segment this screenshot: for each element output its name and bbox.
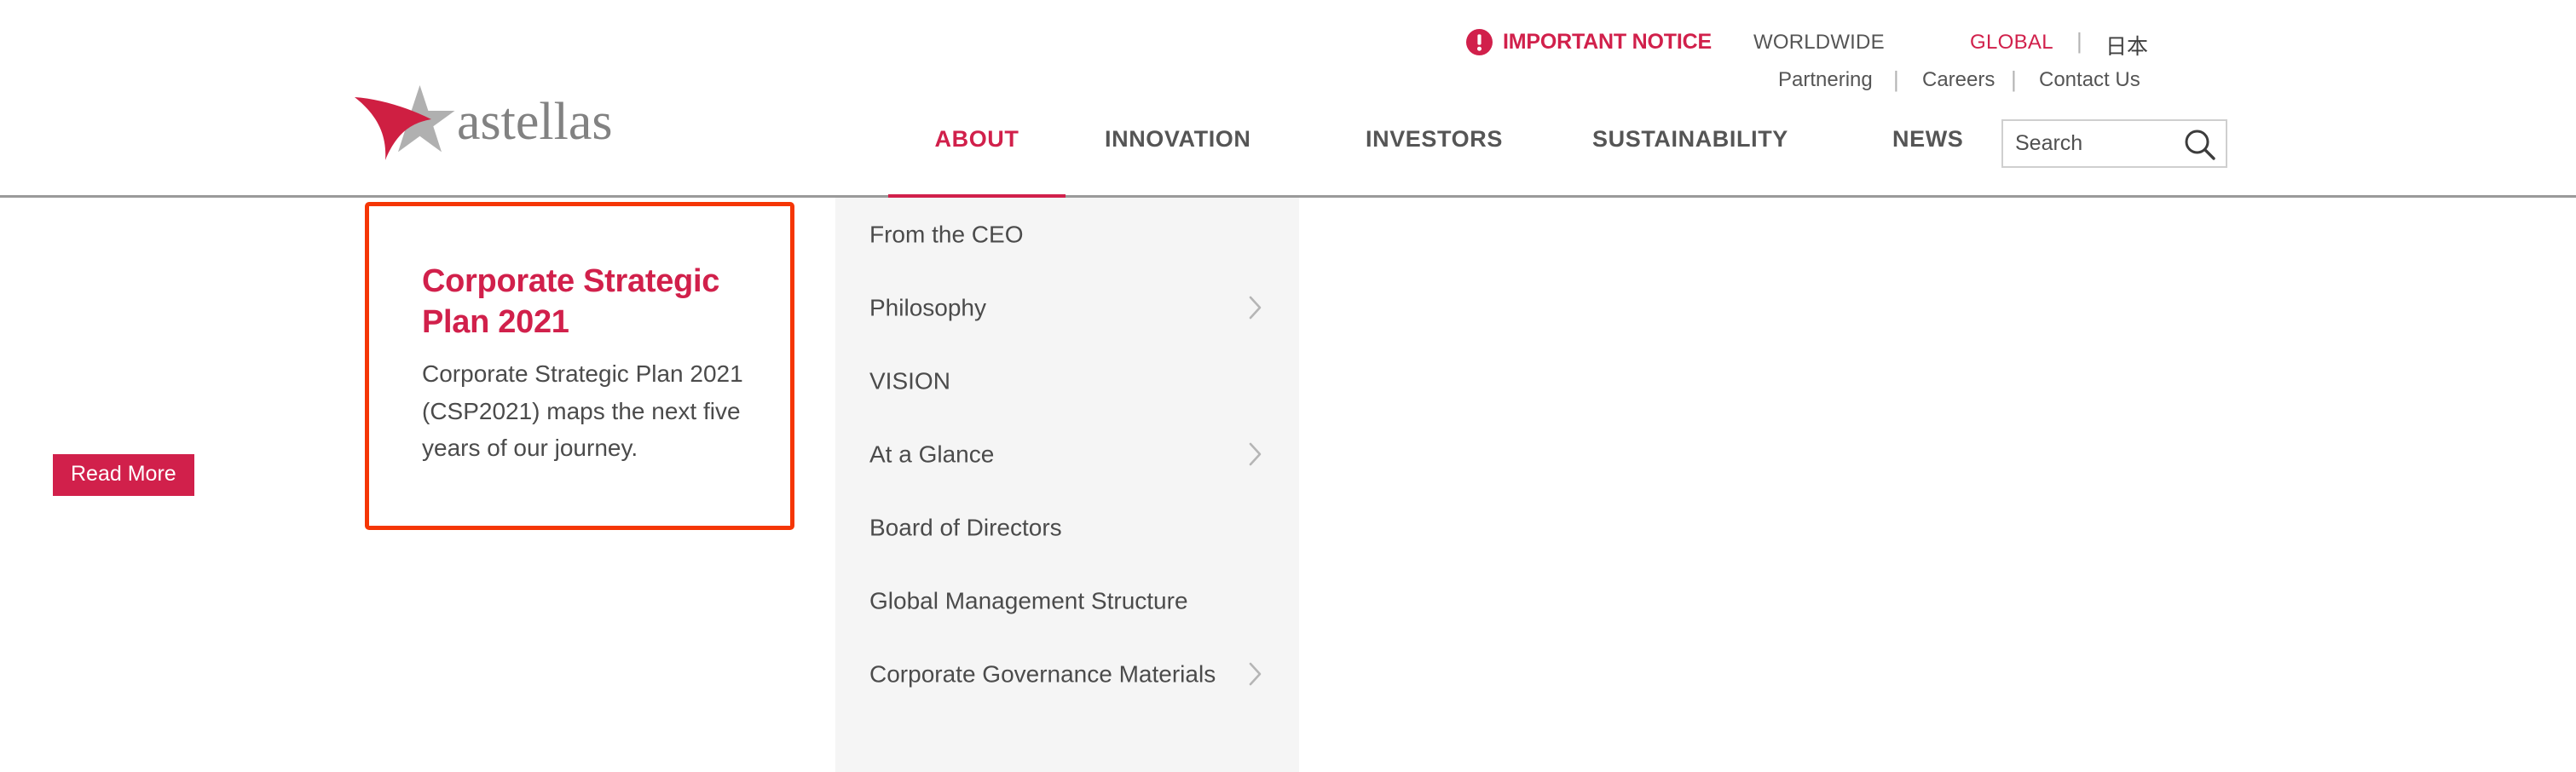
menu-item-corporate-governance-materials[interactable]: Corporate Governance Materials — [835, 637, 1299, 711]
nav-item-sustainability[interactable]: SUSTAINABILITY — [1592, 126, 1788, 198]
menu-item-label: Philosophy — [869, 291, 1227, 324]
promo-card-description: Corporate Strategic Plan 2021 (CSP2021) … — [422, 355, 776, 467]
nav-item-investors[interactable]: INVESTORS — [1366, 126, 1503, 198]
list-item: At a Glance — [835, 418, 1299, 491]
nav-item-about-label: ABOUT — [935, 126, 1019, 152]
important-notice-label: IMPORTANT NOTICE — [1503, 32, 1712, 53]
search-button[interactable] — [2183, 128, 2217, 162]
utility-nav-top: IMPORTANT NOTICE WORLDWIDE GLOBAL | 日本 — [0, 29, 2233, 60]
nav-item-innovation[interactable]: INNOVATION — [1105, 126, 1251, 198]
menu-item-label: Board of Directors — [869, 510, 1227, 544]
search-box — [2001, 119, 2227, 168]
astellas-star-swoosh-icon — [353, 84, 459, 162]
list-item: Board of Directors — [835, 491, 1299, 564]
about-dropdown-panel: From the CEO Philosophy VISION At a Glan… — [835, 198, 1299, 772]
alert-circle-icon — [1466, 29, 1493, 55]
utility-separator-2: | — [2011, 66, 2017, 93]
chevron-right-icon — [1248, 661, 1263, 687]
about-menu-list: From the CEO Philosophy VISION At a Glan… — [835, 198, 1299, 711]
important-notice-link[interactable]: IMPORTANT NOTICE — [1466, 29, 1712, 55]
menu-item-label: At a Glance — [869, 437, 1227, 470]
promo-card-corporate-strategic-plan[interactable]: Corporate Strategic Plan 2021 Corporate … — [365, 202, 794, 530]
search-input[interactable] — [2015, 121, 2173, 166]
menu-item-vision[interactable]: VISION — [835, 344, 1299, 418]
nav-item-news[interactable]: NEWS — [1892, 126, 1963, 198]
list-item: VISION — [835, 344, 1299, 418]
menu-item-from-the-ceo[interactable]: From the CEO — [835, 198, 1299, 271]
chevron-right-icon — [1248, 295, 1263, 320]
astellas-wordmark: astellas — [457, 95, 613, 148]
menu-item-global-management-structure[interactable]: Global Management Structure — [835, 564, 1299, 637]
search-icon — [2183, 152, 2217, 164]
careers-link[interactable]: Careers — [1922, 68, 1995, 92]
utility-separator-1: | — [1893, 66, 1899, 93]
astellas-logo-link[interactable]: astellas — [353, 84, 609, 162]
language-separator: | — [2076, 28, 2082, 55]
list-item: From the CEO — [835, 198, 1299, 271]
partnering-link[interactable]: Partnering — [1778, 68, 1873, 92]
utility-nav-secondary: Partnering | Careers | Contact Us — [0, 68, 2233, 97]
read-more-button[interactable]: Read More — [53, 454, 194, 496]
contact-us-link[interactable]: Contact Us — [2039, 68, 2140, 92]
nav-item-about[interactable]: ABOUT — [888, 126, 1066, 198]
menu-item-philosophy[interactable]: Philosophy — [835, 271, 1299, 344]
list-item: Global Management Structure — [835, 564, 1299, 637]
chevron-right-icon — [1248, 441, 1263, 467]
menu-item-label: VISION — [869, 364, 1227, 397]
promo-card-cta-wrapper: Read More — [53, 454, 194, 496]
menu-item-label: Corporate Governance Materials — [869, 657, 1227, 690]
language-japanese-link[interactable]: 日本 — [2105, 30, 2148, 60]
worldwide-link[interactable]: WORLDWIDE — [1753, 31, 1885, 55]
language-global-link[interactable]: GLOBAL — [1970, 31, 2053, 55]
menu-item-label: Global Management Structure — [869, 584, 1227, 617]
promo-card-title: Corporate Strategic Plan 2021 — [422, 261, 763, 343]
menu-item-at-a-glance[interactable]: At a Glance — [835, 418, 1299, 491]
list-item: Philosophy — [835, 271, 1299, 344]
site-header: IMPORTANT NOTICE WORLDWIDE GLOBAL | 日本 P… — [0, 0, 2576, 198]
menu-item-label: From the CEO — [869, 217, 1227, 251]
list-item: Corporate Governance Materials — [835, 637, 1299, 711]
menu-item-board-of-directors[interactable]: Board of Directors — [835, 491, 1299, 564]
